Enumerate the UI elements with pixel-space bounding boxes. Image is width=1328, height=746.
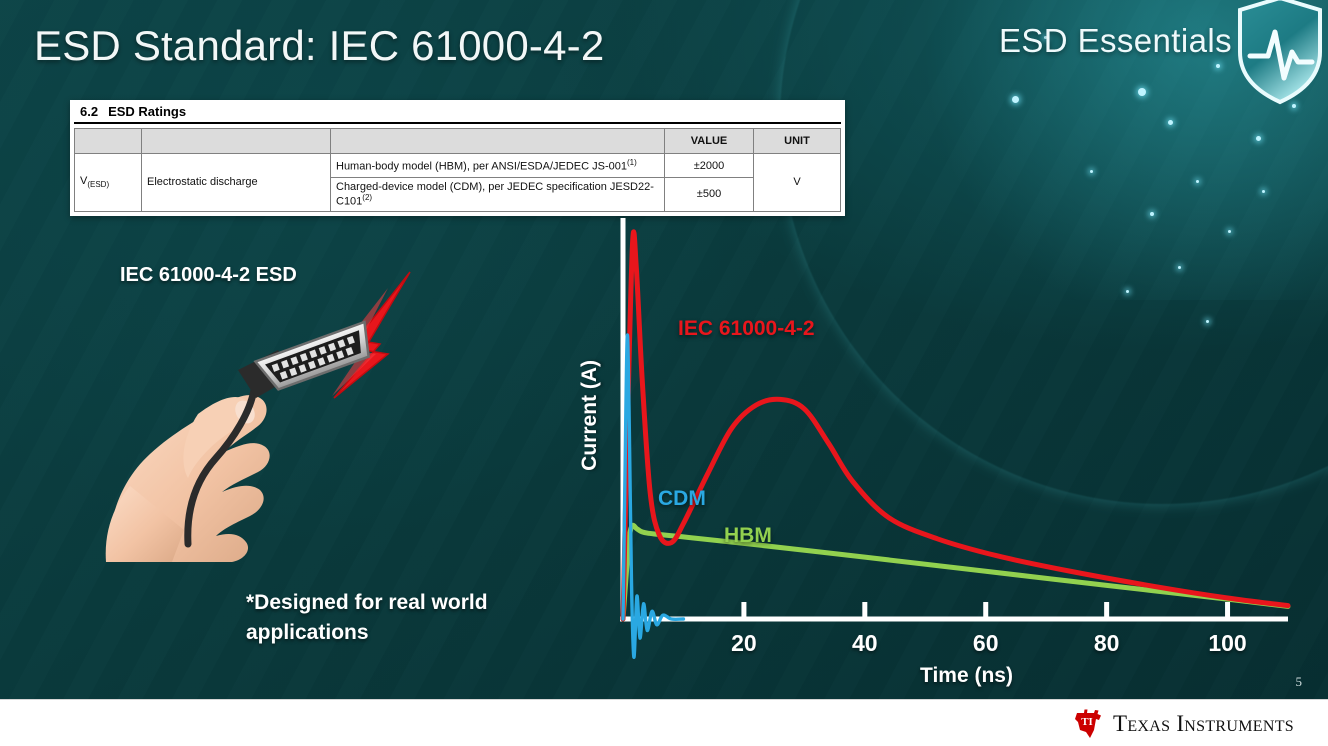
esd-waveform-chart — [560, 200, 1320, 700]
table-row: V(ESD) Electrostatic discharge Human-bod… — [75, 154, 841, 178]
series-label-hbm: HBM — [724, 524, 772, 548]
spec-section-title: ESD Ratings — [108, 104, 186, 119]
chart-x-tick-label: 20 — [731, 630, 757, 657]
slide-canvas: ESD Standard: IEC 61000-4-2 ESD Essentia… — [0, 0, 1328, 746]
th-unit: UNIT — [754, 129, 841, 154]
svg-text:TI: TI — [1081, 716, 1093, 728]
page-title: ESD Standard: IEC 61000-4-2 — [34, 22, 604, 70]
chart-x-tick-label: 100 — [1208, 630, 1246, 657]
hand-holding-hdmi-cable-icon — [88, 262, 428, 562]
series-label-cdm: CDM — [658, 487, 706, 511]
page-number: 5 — [1296, 674, 1303, 690]
chart-x-tick-label: 60 — [973, 630, 999, 657]
chart-x-tick-label: 80 — [1094, 630, 1120, 657]
cell-description-hbm: Human-body model (HBM), per ANSI/ESDA/JE… — [331, 154, 665, 178]
esd-ratings-table: 6.2ESD Ratings VALUE UNIT V(ESD) Electro… — [70, 100, 845, 216]
texas-instruments-logo: TI Texas Instruments — [1074, 708, 1294, 740]
illustration-note: *Designed for real world applications — [246, 588, 546, 649]
chart-series-hbm — [623, 525, 1288, 619]
spec-section-heading: 6.2ESD Ratings — [74, 100, 841, 124]
table-header-row: VALUE UNIT — [75, 129, 841, 154]
chart-series — [623, 232, 1288, 657]
cdm-footnote: (2) — [362, 193, 372, 202]
brand-title: ESD Essentials — [999, 22, 1232, 60]
ti-texas-mark-icon: TI — [1074, 708, 1104, 740]
cell-symbol: V(ESD) — [75, 154, 142, 212]
slide-footer: TI Texas Instruments — [0, 699, 1328, 746]
cell-value-hbm: ±2000 — [665, 154, 754, 178]
shield-heartbeat-icon — [1234, 0, 1326, 106]
hbm-desc-text: Human-body model (HBM), per ANSI/ESDA/JE… — [336, 161, 627, 173]
spec-section-number: 6.2 — [80, 104, 98, 119]
th-value: VALUE — [665, 129, 754, 154]
th-symbol — [75, 129, 142, 154]
th-parameter — [142, 129, 331, 154]
cell-parameter: Electrostatic discharge — [142, 154, 331, 212]
series-label-iec: IEC 61000-4-2 — [678, 317, 815, 341]
th-description — [331, 129, 665, 154]
company-name: Texas Instruments — [1113, 711, 1294, 737]
chart-series-iec-61000-4-2 — [623, 232, 1288, 619]
chart-x-tick-label: 40 — [852, 630, 878, 657]
hbm-footnote: (1) — [627, 158, 637, 167]
